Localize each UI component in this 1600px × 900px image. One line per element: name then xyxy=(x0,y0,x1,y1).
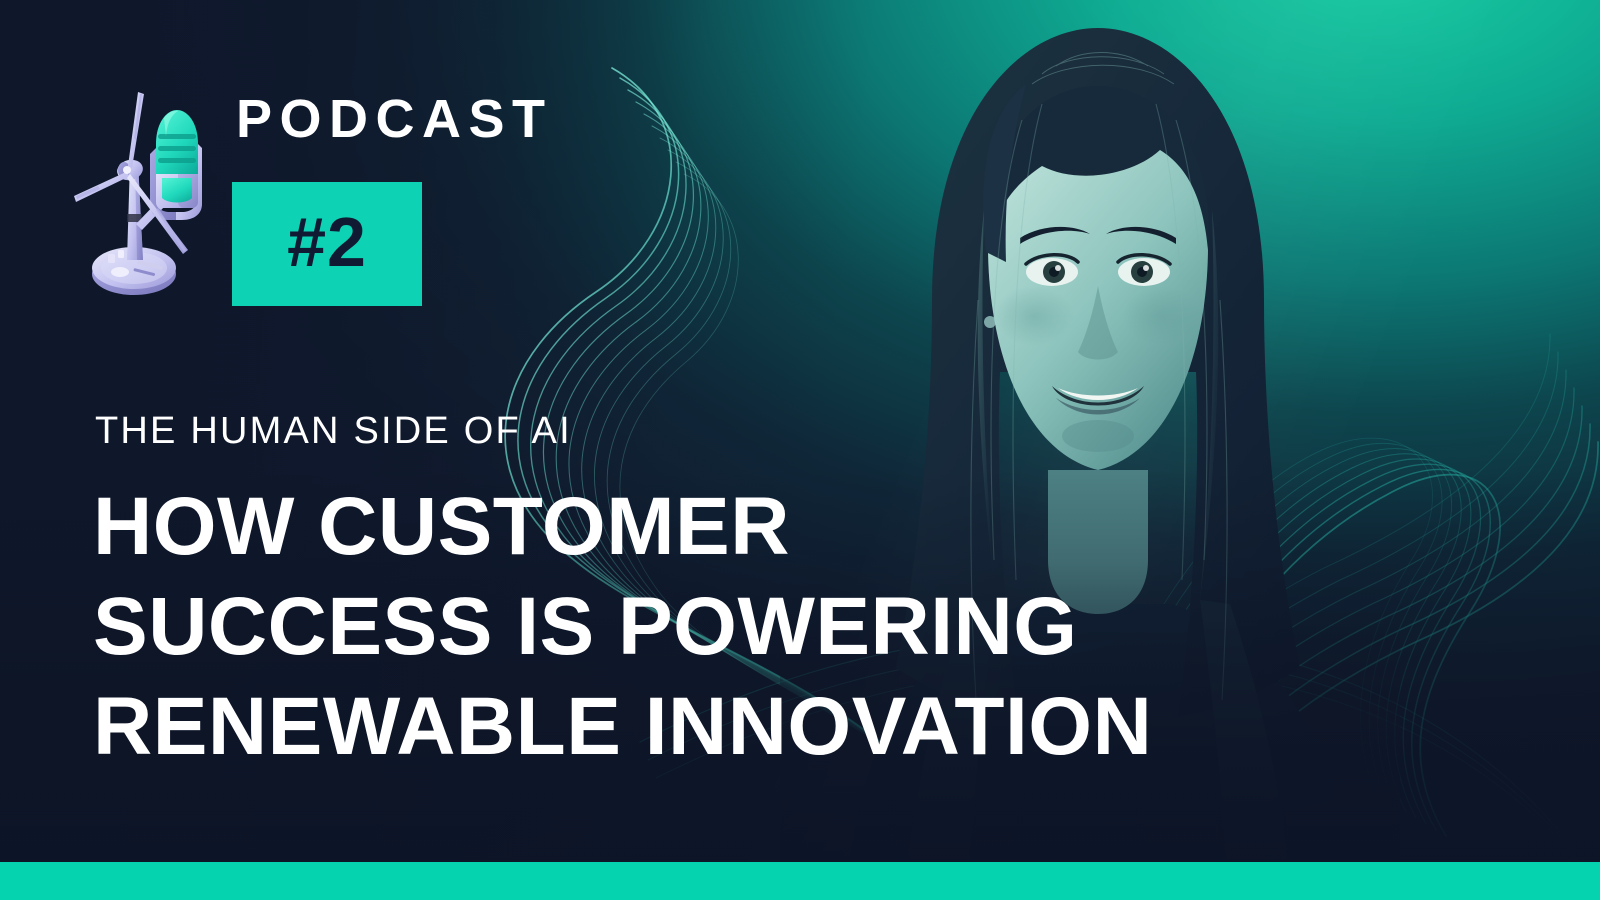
headline-line-3: RENEWABLE INNOVATION xyxy=(93,677,1343,777)
podcast-cover: PODCAST #2 THE HUMAN SIDE OF AI HOW CUST… xyxy=(0,0,1600,900)
headline-line-1: HOW CUSTOMER xyxy=(93,477,1343,577)
bottom-accent-bar xyxy=(0,862,1600,900)
headline-line-2: SUCCESS IS POWERING xyxy=(93,577,1343,677)
episode-number: #2 xyxy=(287,207,367,277)
episode-headline: HOW CUSTOMER SUCCESS IS POWERING RENEWAB… xyxy=(93,477,1343,777)
wind-turbine-microphone-logo xyxy=(72,78,220,308)
podcast-kicker: PODCAST xyxy=(236,92,553,146)
episode-number-badge: #2 xyxy=(232,182,422,306)
series-eyebrow: THE HUMAN SIDE OF AI xyxy=(95,412,572,450)
